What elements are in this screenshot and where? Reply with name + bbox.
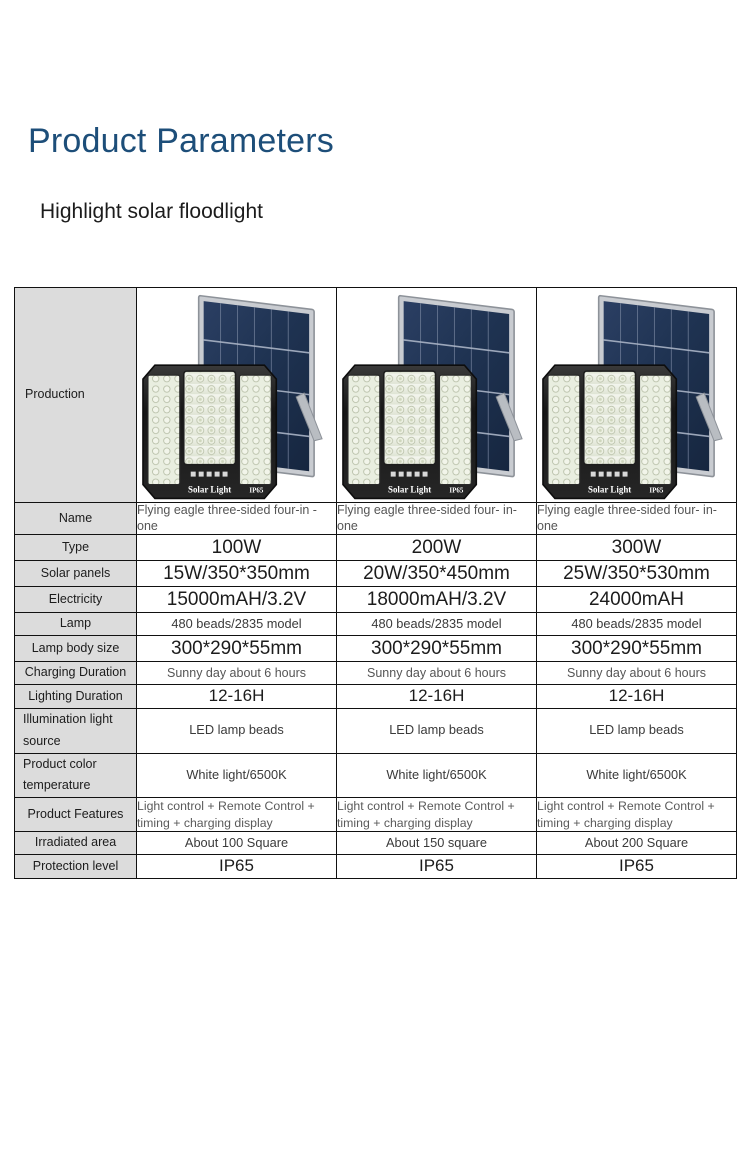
cell-electricity-2: 18000mAH/3.2V [337,587,537,613]
product-image-cell-2: Solar Light IP65 [337,288,537,503]
cell-electricity-1: 15000mAH/3.2V [137,587,337,613]
row-label-lamp: Lamp [15,613,137,636]
cell-name-300w: Flying eagle three-sided four- in-one [537,503,737,535]
cell-type-2: 200W [337,535,537,561]
cell-lamp-body-size-1: 300*290*55mm [137,636,337,662]
table-row-illumination-light-source: Illumination light source LED lamp beads… [15,708,737,753]
cell-color-temp-1: White light/6500K [137,753,337,798]
row-label-protection-level: Protection level [15,855,137,878]
cell-solar-panels-2: 20W/350*450mm [337,561,537,587]
row-label-product-features: Product Features [15,798,137,832]
cell-irradiated-area-2: About 150 square [337,832,537,855]
table-row-type: Type 100W 200W 300W [15,535,737,561]
cell-protection-level-2: IP65 [337,855,537,878]
table-row-lamp: Lamp 480 beads/2835 model 480 beads/2835… [15,613,737,636]
row-label-electricity: Electricity [15,587,137,613]
table-row-product-color-temperature: Product color temperature White light/65… [15,753,737,798]
cell-lamp-1: 480 beads/2835 model [137,613,337,636]
row-label-illumination-light-source: Illumination light source [15,708,137,753]
cell-irradiated-area-3: About 200 Square [537,832,737,855]
svg-text:Solar Light: Solar Light [588,484,631,494]
cell-charging-duration-2: Sunny day about 6 hours [337,662,537,685]
row-label-lamp-body-size: Lamp body size [15,636,137,662]
cell-type-1: 100W [137,535,337,561]
cell-lighting-duration-2: 12-16H [337,685,537,708]
cell-features-3: Light control + Remote Control + timing … [537,798,737,832]
row-label-solar-panels: Solar panels [15,561,137,587]
cell-lamp-3: 480 beads/2835 model [537,613,737,636]
cell-lamp-body-size-3: 300*290*55mm [537,636,737,662]
cell-solar-panels-1: 15W/350*350mm [137,561,337,587]
svg-text:IP65: IP65 [649,486,663,494]
table-row-production: Production [15,288,737,503]
cell-color-temp-3: White light/6500K [537,753,737,798]
cell-lighting-duration-1: 12-16H [137,685,337,708]
cell-electricity-3: 24000mAH [537,587,737,613]
cell-illumination-3: LED lamp beads [537,708,737,753]
row-label-lighting-duration: Lighting Duration [15,685,137,708]
row-label-name: Name [15,503,137,535]
cell-lamp-body-size-2: 300*290*55mm [337,636,537,662]
table-row-lamp-body-size: Lamp body size 300*290*55mm 300*290*55mm… [15,636,737,662]
table-row-irradiated-area: Irradiated area About 100 Square About 1… [15,832,737,855]
cell-charging-duration-3: Sunny day about 6 hours [537,662,737,685]
table-row-charging-duration: Charging Duration Sunny day about 6 hour… [15,662,737,685]
page-subtitle: Highlight solar floodlight [40,200,263,224]
product-parameters-page: Product Parameters Highlight solar flood… [0,0,750,1151]
row-label-irradiated-area: Irradiated area [15,832,137,855]
solar-floodlight-icon: Solar Light IP65 [337,289,536,502]
row-label-type: Type [15,535,137,561]
cell-irradiated-area-1: About 100 Square [137,832,337,855]
table-body: Production [15,288,737,879]
cell-protection-level-1: IP65 [137,855,337,878]
cell-lighting-duration-3: 12-16H [537,685,737,708]
product-parameters-table: Production [14,287,737,879]
product-image-cell-1: Solar Light IP65 [137,288,337,503]
svg-text:IP65: IP65 [449,486,463,494]
svg-text:IP65: IP65 [249,486,263,494]
cell-solar-panels-3: 25W/350*530mm [537,561,737,587]
table-row-electricity: Electricity 15000mAH/3.2V 18000mAH/3.2V … [15,587,737,613]
table-row-product-features: Product Features Light control + Remote … [15,798,737,832]
cell-lamp-2: 480 beads/2835 model [337,613,537,636]
svg-text:Solar Light: Solar Light [388,484,431,494]
cell-color-temp-2: White light/6500K [337,753,537,798]
table-row-lighting-duration: Lighting Duration 12-16H 12-16H 12-16H [15,685,737,708]
row-label-product-color-temperature: Product color temperature [15,753,137,798]
svg-text:Solar Light: Solar Light [188,484,231,494]
cell-type-3: 300W [537,535,737,561]
table-row-solar-panels: Solar panels 15W/350*350mm 20W/350*450mm… [15,561,737,587]
solar-floodlight-icon: Solar Light IP65 [537,289,736,502]
cell-illumination-2: LED lamp beads [337,708,537,753]
product-image-cell-3: Solar Light IP65 [537,288,737,503]
cell-name-200w: Flying eagle three-sided four- in-one [337,503,537,535]
cell-illumination-1: LED lamp beads [137,708,337,753]
row-label-production: Production [15,288,137,503]
solar-floodlight-icon: Solar Light IP65 [137,289,336,502]
table-row-protection-level: Protection level IP65 IP65 IP65 [15,855,737,878]
cell-protection-level-3: IP65 [537,855,737,878]
table-row-name: Name Flying eagle three-sided four-in -o… [15,503,737,535]
page-title: Product Parameters [28,123,334,160]
row-label-charging-duration: Charging Duration [15,662,137,685]
cell-charging-duration-1: Sunny day about 6 hours [137,662,337,685]
cell-name-100w: Flying eagle three-sided four-in -one [137,503,337,535]
cell-features-1: Light control + Remote Control + timing … [137,798,337,832]
cell-features-2: Light control + Remote Control + timing … [337,798,537,832]
